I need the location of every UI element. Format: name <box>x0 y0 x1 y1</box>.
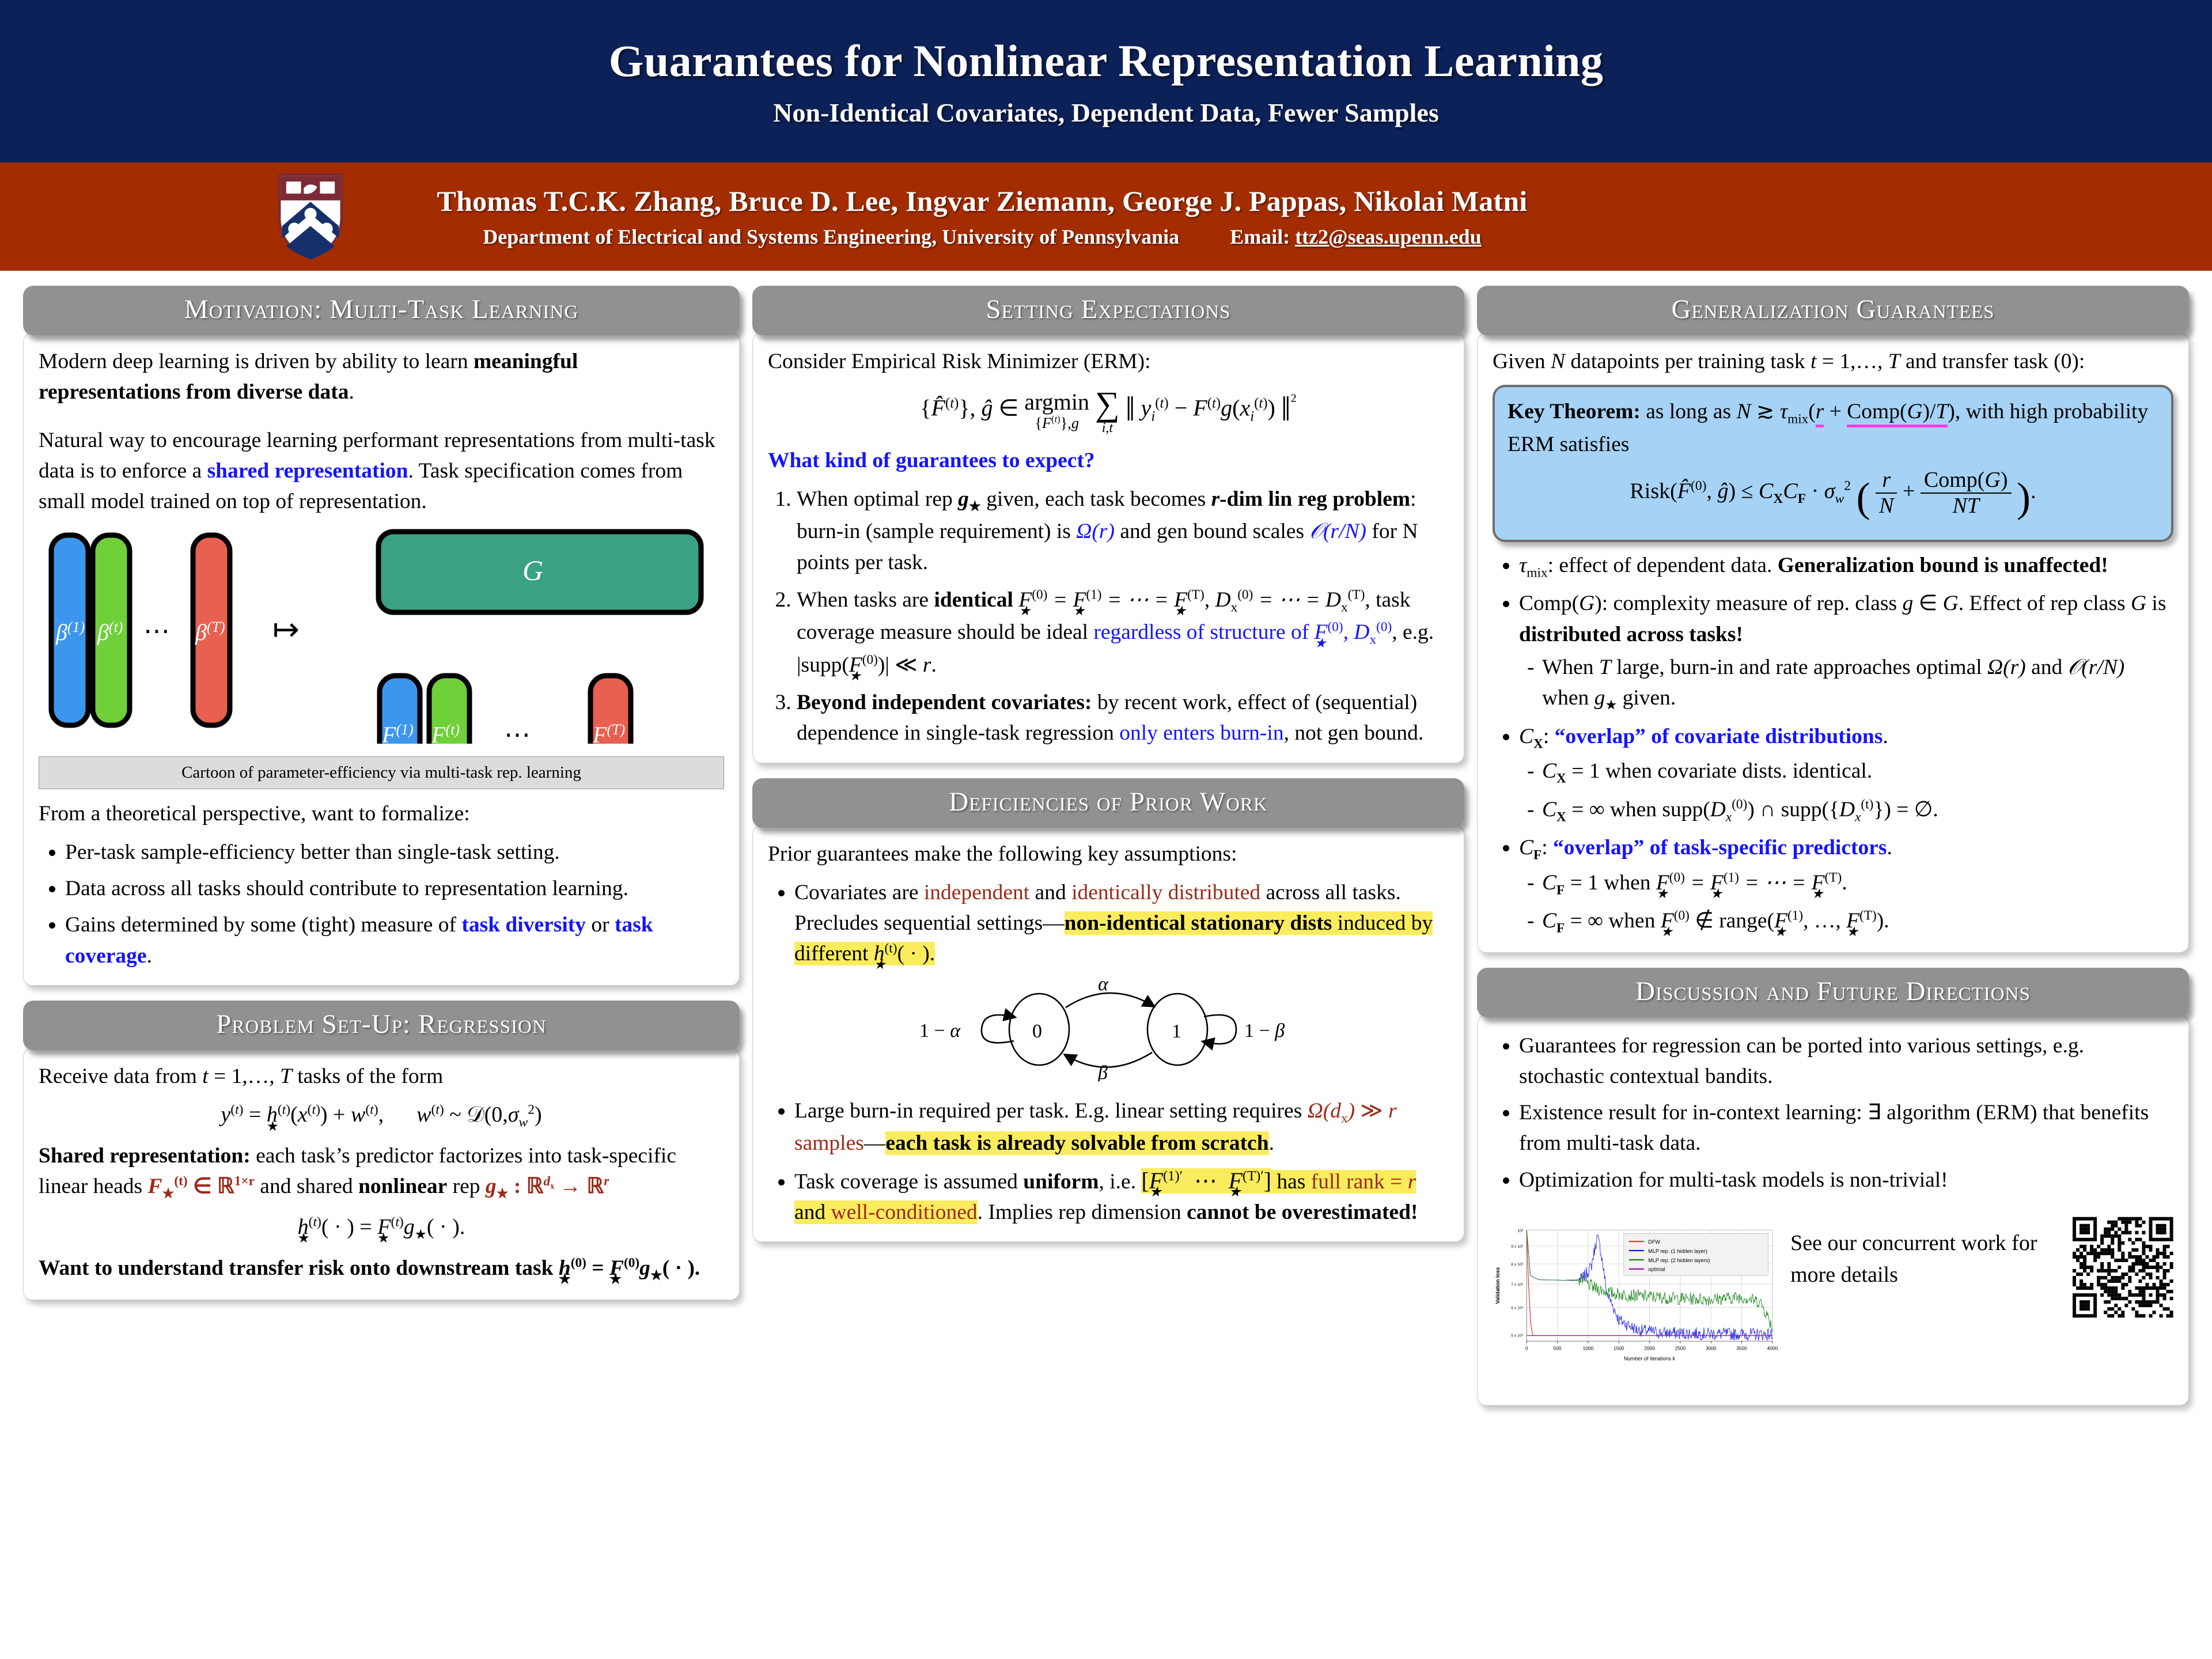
gb4-blue1: “overlap” of task-specific predictors <box>1553 836 1887 859</box>
upenn-shield-icon <box>276 162 344 271</box>
exp1-p1: When optimal rep <box>797 487 958 511</box>
gb1-b1: Generalization bound is unaffected! <box>1778 554 2108 577</box>
list-item: CF = ∞ when F★(0) ∉ range(F★(1), …, F★(T… <box>1542 906 2173 938</box>
shared-rep-text2: and shared <box>255 1175 358 1198</box>
svg-text:10²: 10² <box>1517 1229 1524 1233</box>
section-deficiencies: Deficiencies of Prior Work Prior guarant… <box>752 778 1464 1243</box>
section-discussion: Discussion and Future Directions Guarant… <box>1477 968 2189 1406</box>
svg-text:500: 500 <box>1554 1345 1562 1351</box>
cartoon-caption: Cartoon of parameter-efficiency via mult… <box>39 756 724 789</box>
nonlinear-text: rep <box>447 1175 486 1198</box>
motivation-bullet-list: Per-task sample-efficiency better than s… <box>39 837 724 971</box>
svg-text:2500: 2500 <box>1675 1345 1686 1351</box>
list-item: Per-task sample-efficiency better than s… <box>65 837 724 868</box>
svg-text:MLP rep. (2 hidden layers): MLP rep. (2 hidden layers) <box>1648 1257 1710 1263</box>
def3-p2: , i.e. <box>1099 1170 1142 1194</box>
list-item: When T large, burn-in and rate approache… <box>1542 652 2173 715</box>
list-item: CF: “overlap” of task-specific predictor… <box>1519 832 2173 938</box>
gb4-p1: : <box>1541 836 1553 859</box>
section-title-problem-setup: Problem Set-Up: Regression <box>23 1001 740 1050</box>
problem-shared-rep: Shared representation: each task’s predi… <box>39 1141 724 1204</box>
qr-code-icon[interactable] <box>2073 1201 2173 1334</box>
markov-state-1: 1 <box>1172 1021 1181 1042</box>
page-title: Guarantees for Nonlinear Representation … <box>609 35 1603 87</box>
expectations-numbered-list: When optimal rep g★ given, each task bec… <box>768 484 1449 749</box>
poster-columns: Motivation: Multi-Task Learning Modern d… <box>0 271 2212 1659</box>
section-body-setting-expectations: Consider Empirical Risk Minimizer (ERM):… <box>752 333 1464 763</box>
svg-text:Validation loss: Validation loss <box>1495 1267 1501 1304</box>
exp3-b1: Beyond independent covariates: <box>797 691 1092 714</box>
section-body-problem-setup: Receive data from t = 1,…, T tasks of th… <box>23 1048 740 1300</box>
list-item: Data across all tasks should contribute … <box>65 873 724 904</box>
svg-text:7 x 10¹: 7 x 10¹ <box>1511 1283 1524 1287</box>
gb3-blue1: “overlap” of covariate distributions <box>1555 725 1883 748</box>
list-item: CF = 1 when F★(0) = F★(1) = ⋯ = F★(T). <box>1542 868 2173 900</box>
def2-p2: — <box>864 1131 886 1155</box>
bullet3-blue1: task diversity <box>461 913 586 937</box>
expectations-question: What kind of guarantees to expect? <box>768 445 1449 476</box>
section-setting-expectations: Setting Expectations Consider Empirical … <box>752 286 1464 763</box>
exp1-p4: and gen bound scales <box>1115 520 1309 543</box>
guarantees-sub-list-1: When T large, burn-in and rate approache… <box>1519 652 2173 715</box>
bullet3-mid: or <box>586 913 615 937</box>
section-motivation: Motivation: Multi-Task Learning Modern d… <box>23 286 740 986</box>
def3-p5: . Implies rep dimension <box>978 1200 1187 1224</box>
guarantees-sub-list-2: CX = 1 when covariate dists. identical. … <box>1519 756 2173 827</box>
page-subtitle: Non-Identical Covariates, Dependent Data… <box>773 97 1438 128</box>
gb3-p2: . <box>1883 725 1888 748</box>
markov-1-minus-beta: 1 − β <box>1244 1020 1285 1041</box>
theorem-text2: + <box>1824 400 1847 423</box>
author-banner: Thomas T.C.K. Zhang, Bruce D. Lee, Ingva… <box>0 162 2212 271</box>
markov-beta: β <box>1097 1062 1108 1081</box>
guarantees-lead: Given N datapoints per training task t =… <box>1493 346 2173 377</box>
svg-text:MLP rep. (1 hidden layer): MLP rep. (1 hidden layer) <box>1648 1248 1707 1254</box>
deficiencies-bullet-list: Covariates are independent and identical… <box>768 877 1449 969</box>
def3-b2: cannot be overestimated! <box>1187 1200 1418 1224</box>
def3-p4: and <box>794 1200 831 1224</box>
theorem-statement: Key Theorem: as long as N ≳ τmix(r + Com… <box>1508 396 2158 460</box>
motivation-p2b: shared representation <box>207 459 408 483</box>
validation-loss-chart: 5 x 10¹6 x 10¹7 x 10¹8 x 10¹9 x 10¹10²05… <box>1493 1201 1781 1391</box>
markov-1-minus-alpha: 1 − α <box>919 1020 961 1041</box>
shared-rep-label: Shared representation: <box>39 1144 251 1168</box>
column-left: Motivation: Multi-Task Learning Modern d… <box>23 286 740 1646</box>
exp3-blue1: only enters burn-in <box>1119 721 1283 745</box>
svg-text:1000: 1000 <box>1583 1345 1594 1351</box>
list-item: Optimization for multi-task models is no… <box>1519 1165 2173 1195</box>
section-body-generalization-guarantees: Given N datapoints per training task t =… <box>1477 333 2189 953</box>
svg-text:5 x 10¹: 5 x 10¹ <box>1511 1334 1524 1338</box>
gb4-p2: . <box>1887 836 1892 859</box>
markov-alpha: α <box>1098 974 1109 995</box>
list-item: When optimal rep g★ given, each task bec… <box>797 484 1449 578</box>
section-title-generalization-guarantees: Generalization Guarantees <box>1477 286 2189 335</box>
problem-transfer-risk: Want to understand transfer risk onto do… <box>39 1253 724 1286</box>
motivation-p1a: Modern deep learning is driven by abilit… <box>39 350 474 373</box>
list-item: CX: “overlap” of covariate distributions… <box>1519 721 2173 827</box>
exp1-blue2: 𝒪(r/N) <box>1309 520 1366 543</box>
list-item: Large burn-in required per task. E.g. li… <box>794 1096 1449 1159</box>
section-body-discussion: Guarantees for regression can be ported … <box>1477 1015 2189 1406</box>
section-title-deficiencies: Deficiencies of Prior Work <box>752 778 1464 828</box>
guarantees-sub-list-3: CF = 1 when F★(0) = F★(1) = ⋯ = F★(T). C… <box>1519 868 2173 938</box>
svg-text:4000: 4000 <box>1767 1345 1778 1351</box>
list-item: Task coverage is assumed uniform, i.e. [… <box>794 1165 1449 1228</box>
exp2-b1: identical <box>934 588 1013 612</box>
list-item: When tasks are identical F★(0) = F★(1) =… <box>797 585 1449 680</box>
def1-r1: independent <box>924 881 1029 904</box>
list-item: CX = ∞ when supp(Dx(0)) ∩ supp({Dx(t)}) … <box>1542 794 2173 827</box>
motivation-para-1: Modern deep learning is driven by abilit… <box>39 346 724 408</box>
author-list: Thomas T.C.K. Zhang, Bruce D. Lee, Ingva… <box>437 184 1528 218</box>
theorem-label: Key Theorem: <box>1508 400 1641 423</box>
gb2-b1: distributed across tasks! <box>1519 623 1743 646</box>
list-item: Beyond independent covariates: by recent… <box>797 687 1449 749</box>
svg-text:DFW: DFW <box>1648 1239 1660 1245</box>
svg-text:6 x 10¹: 6 x 10¹ <box>1511 1306 1524 1310</box>
def3-p1: Task coverage is assumed <box>794 1170 1023 1194</box>
see-our-label: See our concurrent work for more details <box>1790 1231 2037 1287</box>
affiliation-line: Department of Electrical and Systems Eng… <box>483 225 1481 249</box>
exp1-blue1: Ω(r) <box>1076 520 1115 543</box>
exp1-p2: given, each task becomes <box>981 487 1211 511</box>
svg-text:Number of iterations k: Number of iterations k <box>1624 1355 1676 1361</box>
def3-p3: has <box>1271 1170 1311 1194</box>
def1-p1: Covariates are <box>794 881 924 904</box>
list-item: Guarantees for regression can be ported … <box>1519 1031 2173 1092</box>
list-item: CX = 1 when covariate dists. identical. <box>1542 756 2173 789</box>
svg-text:1500: 1500 <box>1613 1345 1624 1351</box>
def1-r2: identically distributed <box>1071 881 1260 904</box>
svg-text:3000: 3000 <box>1706 1345 1717 1351</box>
discussion-figure-row: 5 x 10¹6 x 10¹7 x 10¹8 x 10¹9 x 10¹10²05… <box>1493 1201 2173 1391</box>
gb1-p1: : effect of dependent data. <box>1548 554 1778 577</box>
def3-r2: well-conditioned <box>831 1200 978 1224</box>
section-body-motivation: Modern deep learning is driven by abilit… <box>23 333 740 986</box>
theorem-ul-r: r <box>1816 400 1824 427</box>
svg-text:3500: 3500 <box>1736 1345 1747 1351</box>
equation-erm: {F̂(t)}, ĝ ∈ argmin {F(t)},g ∑ i,t ‖ yi(… <box>768 385 1449 434</box>
want-text: Want to understand transfer risk onto do… <box>39 1256 559 1280</box>
svg-text:2000: 2000 <box>1644 1345 1655 1351</box>
affiliation-text: Department of Electrical and Systems Eng… <box>483 225 1179 248</box>
list-item: τmix: effect of dependent data. Generali… <box>1519 550 2173 583</box>
mapsto-arrow: ↦ <box>272 612 300 647</box>
exp3-p2: , not gen bound. <box>1284 721 1424 745</box>
equation-factorization: h★(t)( · ) = F★(t)g★( · ). <box>39 1212 724 1245</box>
exp2-p1: When tasks are <box>797 588 934 612</box>
see-our-work-text: See our concurrent work for more details <box>1790 1201 2063 1291</box>
bullet3-post: . <box>147 944 152 968</box>
svg-text:8 x 10¹: 8 x 10¹ <box>1511 1263 1524 1267</box>
poster-title-banner: Guarantees for Nonlinear Representation … <box>0 0 2212 162</box>
bullet3-pre: Gains determined by some (tight) measure… <box>65 913 461 937</box>
section-title-discussion: Discussion and Future Directions <box>1477 968 2189 1017</box>
column-middle: Setting Expectations Consider Empirical … <box>752 286 1464 1646</box>
discussion-bullet-list: Guarantees for regression can be ported … <box>1493 1031 2173 1195</box>
section-body-deficiencies: Prior guarantees make the following key … <box>752 825 1464 1243</box>
theorem-ul-comp: Comp(G)/T <box>1847 400 1948 427</box>
key-theorem-box: Key Theorem: as long as N ≳ τmix(r + Com… <box>1493 385 2173 542</box>
multi-task-cartoon-diagram: β(1) β(t) β(T) G F(1) F(t) F(T) ⋯ ⋯ ↦ <box>39 525 724 752</box>
left-ellipsis: ⋯ <box>143 616 170 646</box>
list-item: Covariates are independent and identical… <box>794 877 1449 969</box>
guarantees-bullet-list: τmix: effect of dependent data. Generali… <box>1493 550 2173 938</box>
gb3-p1: : <box>1543 725 1555 748</box>
nonlinear-label: nonlinear <box>358 1175 447 1198</box>
section-title-setting-expectations: Setting Expectations <box>752 286 1464 335</box>
deficiencies-lead: Prior guarantees make the following key … <box>768 839 1449 869</box>
list-item: Comp(G): complexity measure of rep. clas… <box>1519 588 2173 715</box>
def2-p1: Large burn-in required per task. E.g. li… <box>794 1099 1308 1123</box>
def2-p3: . <box>1269 1131 1274 1155</box>
equation-risk-bound: Risk(F̂(0), ĝ) ≤ CXCF · σw2 ( rN + Comp(… <box>1508 468 2158 527</box>
markov-chain-diagram: 0 1 α β 1 − α 1 − β <box>768 972 1449 1090</box>
svg-text:0: 0 <box>1525 1345 1528 1351</box>
def1-p2: and <box>1029 881 1071 904</box>
svg-text:9 x 10¹: 9 x 10¹ <box>1511 1245 1524 1249</box>
motivation-p1c: . <box>349 380 354 404</box>
section-problem-setup: Problem Set-Up: Regression Receive data … <box>23 1001 740 1300</box>
problem-lead: Receive data from t = 1,…, T tasks of th… <box>39 1061 724 1092</box>
section-title-motivation: Motivation: Multi-Task Learning <box>23 286 740 335</box>
list-item: Existence result for in-context learning… <box>1519 1097 2173 1159</box>
svg-text:optimal: optimal <box>1648 1267 1665 1272</box>
equation-data-model: y(t) = h★(t)(x(t)) + w(t), w(t) ~ 𝒟(0,σw… <box>39 1100 724 1132</box>
deficiencies-bullet-list-2: Large burn-in required per task. E.g. li… <box>768 1096 1449 1228</box>
def3-b1: uniform <box>1023 1170 1099 1194</box>
list-item: Gains determined by some (tight) measure… <box>65 910 724 971</box>
def1-hl-bold: non-identical stationary dists <box>1065 911 1332 935</box>
right-ellipsis: ⋯ <box>504 720 531 744</box>
def2-hl: each task is already solvable from scrat… <box>885 1131 1268 1155</box>
formalize-lead: From a theoretical perspective, want to … <box>39 798 724 829</box>
erm-lead: Consider Empirical Risk Minimizer (ERM): <box>768 346 1449 377</box>
email-link[interactable]: ttz2@seas.upenn.edu <box>1295 225 1482 248</box>
G-label: G <box>522 554 543 586</box>
email-label: Email: <box>1230 225 1290 248</box>
markov-state-0: 0 <box>1032 1021 1042 1042</box>
motivation-para-2: Natural way to encourage learning perfor… <box>39 425 724 517</box>
column-right: Generalization Guarantees Given N datapo… <box>1477 286 2189 1646</box>
section-generalization-guarantees: Generalization Guarantees Given N datapo… <box>1477 286 2189 953</box>
